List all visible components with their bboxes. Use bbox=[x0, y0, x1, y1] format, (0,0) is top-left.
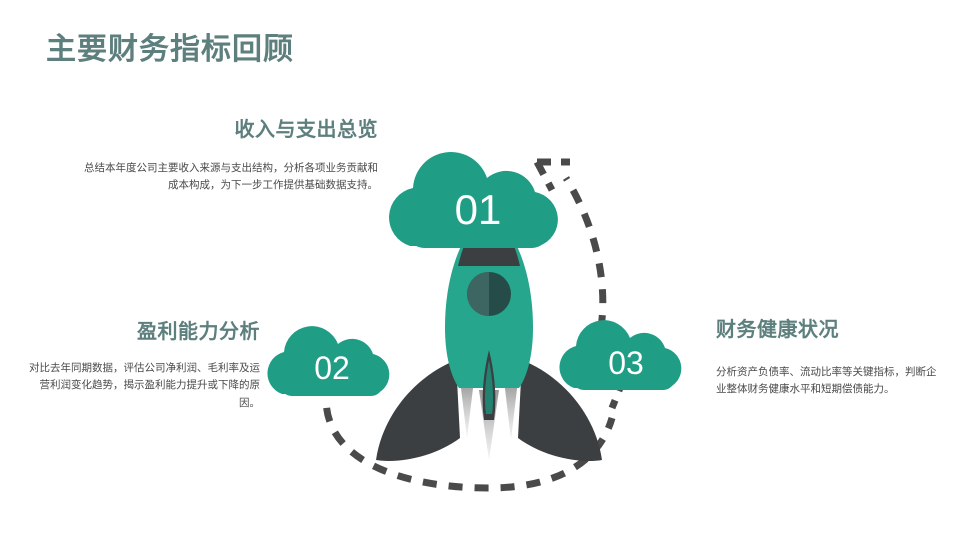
cloud-badge-01[interactable]: 01 bbox=[389, 152, 558, 248]
slide-canvas: 主要财务指标回顾 收入与支出总览 总结本年度公司主要收入来源与支出结构，分析各项… bbox=[0, 0, 960, 540]
section-02-body: 对比去年同期数据，评估公司净利润、毛利率及运营利润变化趋势，揭示盈利能力提升或下… bbox=[20, 360, 260, 412]
rocket-infographic: 01 02 03 bbox=[260, 88, 720, 500]
cloud-03-number: 03 bbox=[608, 345, 644, 381]
rocket-flame-right bbox=[504, 380, 518, 440]
page-title: 主要财务指标回顾 bbox=[46, 24, 294, 68]
cloud-badge-03[interactable]: 03 bbox=[559, 320, 681, 390]
section-03-body: 分析资产负债率、流动比率等关键指标，判断企业整体财务健康水平和短期偿债能力。 bbox=[716, 364, 940, 399]
section-02: 盈利能力分析 对比去年同期数据，评估公司净利润、毛利率及运营利润变化趋势，揭示盈… bbox=[20, 320, 260, 412]
section-02-heading: 盈利能力分析 bbox=[20, 320, 260, 344]
cloud-01-number: 01 bbox=[455, 186, 502, 233]
cloud-badge-02[interactable]: 02 bbox=[267, 326, 389, 396]
rocket-flame-left bbox=[460, 380, 474, 438]
dashed-arc-top-arrowhead bbox=[537, 162, 570, 190]
cloud-02-number: 02 bbox=[314, 350, 350, 386]
section-03-heading: 财务健康状况 bbox=[716, 318, 940, 342]
section-03: 财务健康状况 分析资产负债率、流动比率等关键指标，判断企业整体财务健康水平和短期… bbox=[716, 318, 940, 399]
